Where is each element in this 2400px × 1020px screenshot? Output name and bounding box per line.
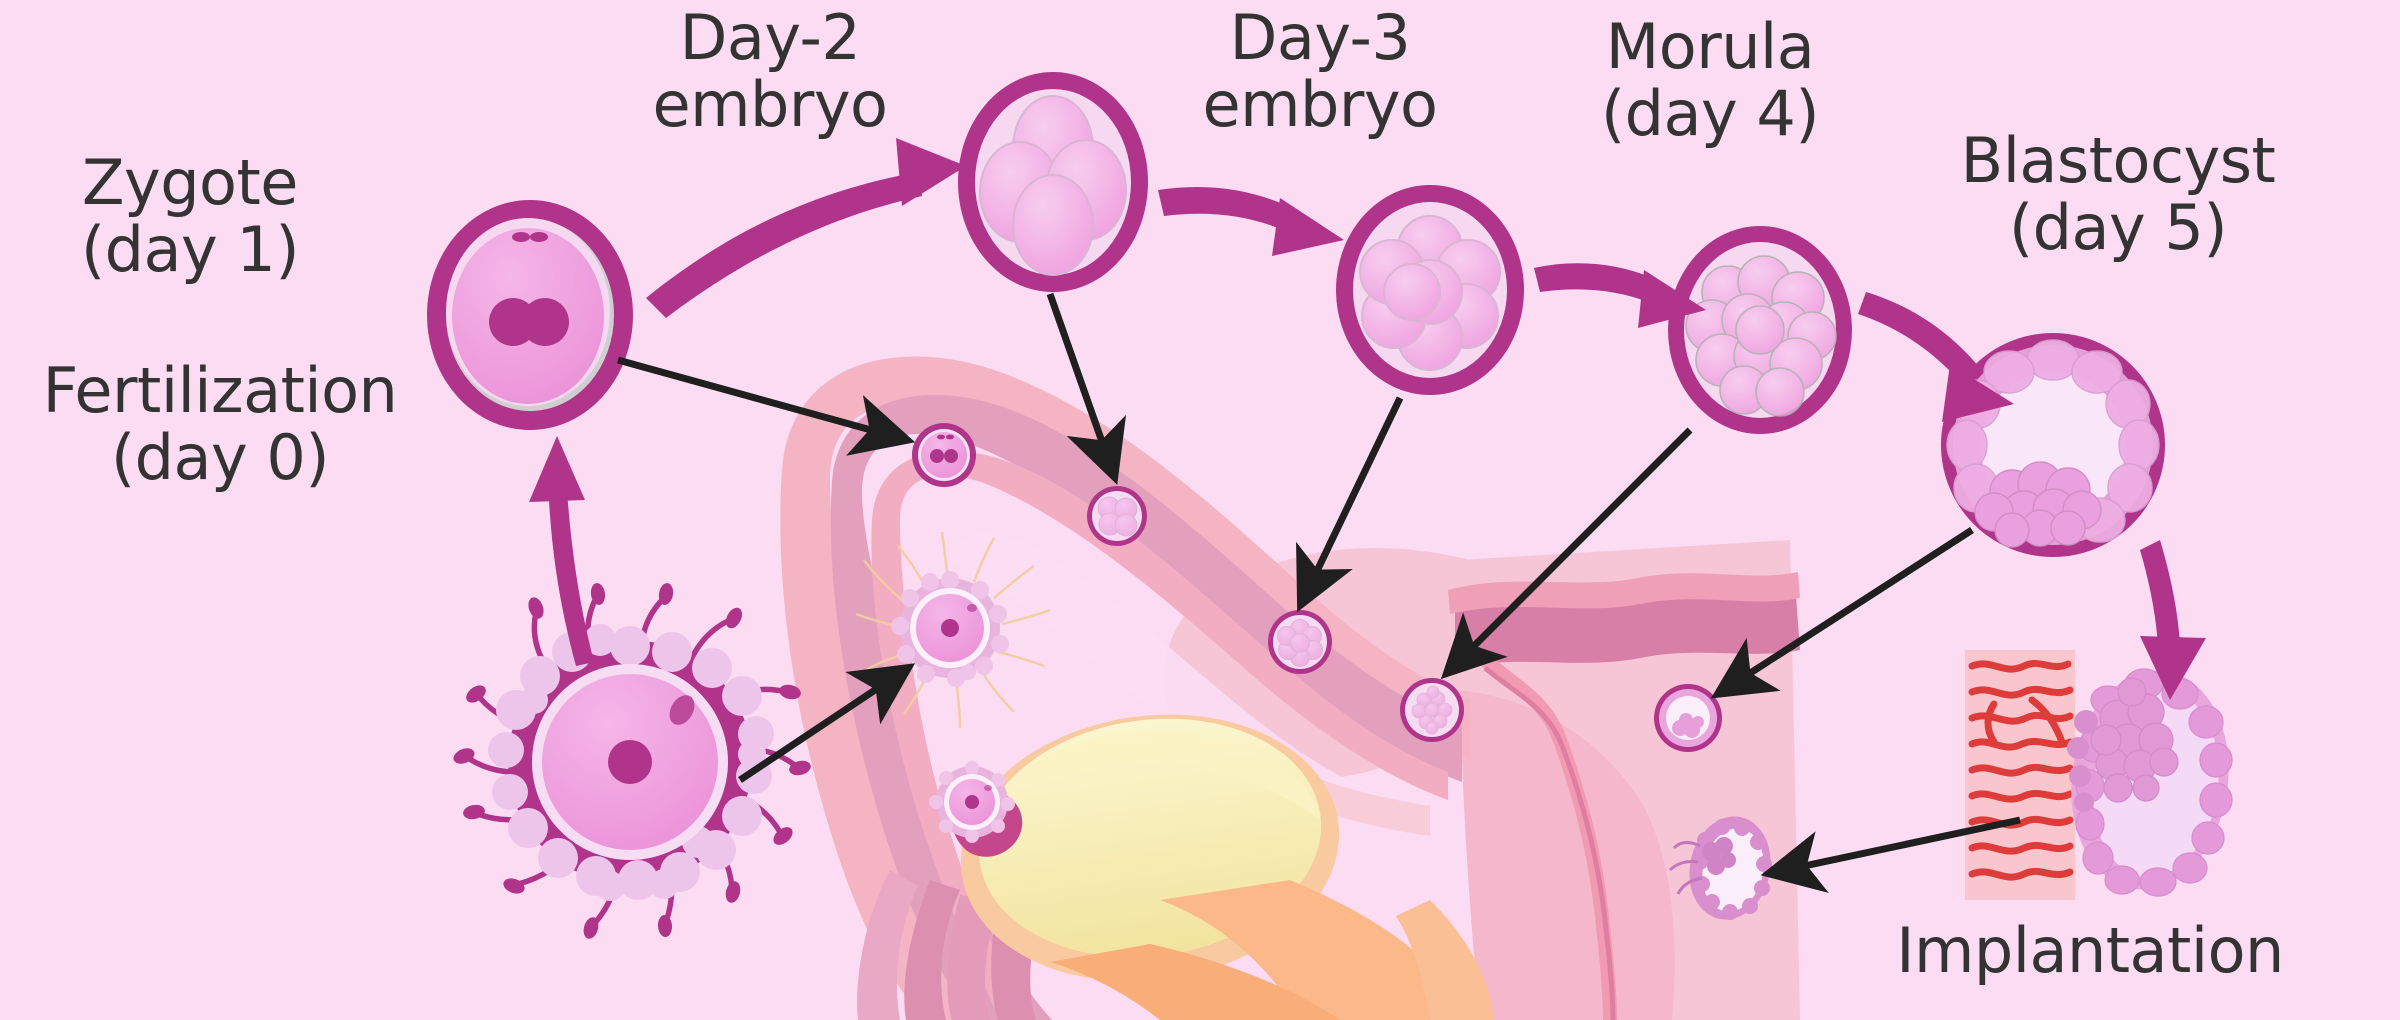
label-zygote: Zygote (day 1) (40, 150, 340, 284)
zygote-tube-polar-body-1 (937, 435, 945, 440)
ovum-nucleus (608, 740, 652, 784)
zygote-tube-polar-body-2 (946, 435, 954, 440)
morula-in-tube (1400, 678, 1464, 742)
zygote-polar-body-2 (530, 232, 548, 242)
zygote-tube-pronucleus-2 (944, 449, 958, 463)
ovum-nucleus-tube (941, 619, 959, 637)
label-blastocyst: Blastocyst (day 5) (1948, 128, 2288, 262)
day3-embryo-in-tube (1268, 610, 1332, 674)
day2-embryo-in-tube (1087, 486, 1147, 546)
morula-stage-figure (1668, 226, 1852, 434)
blastocyst-in-uterus (1654, 684, 1722, 752)
zygote-tube-cytoplasm (921, 432, 967, 478)
zygote-pronucleus-female (521, 298, 569, 346)
ovum-nucleus-released (965, 795, 979, 809)
zygote-stage-figure (427, 200, 633, 430)
day2-embryo-stage-figure (958, 72, 1148, 292)
polar-body-tube (967, 604, 977, 612)
label-implantation: Implantation (1860, 918, 2320, 985)
polar-body-released (984, 785, 992, 791)
day3-embryo-stage-figure (1336, 185, 1524, 395)
zygote-in-tube (912, 423, 976, 487)
label-fertilization: Fertilization (day 0) (10, 358, 430, 492)
label-day2-embryo: Day-2 embryo (620, 5, 920, 139)
day2-tube-blastomeres (1098, 497, 1137, 536)
diagram-canvas: Zygote (day 1) Day-2 embryo Day-3 embryo… (0, 0, 2400, 1020)
label-morula: Morula (day 4) (1560, 14, 1860, 148)
label-day3-embryo: Day-3 embryo (1170, 5, 1470, 139)
zygote-polar-body-1 (512, 232, 530, 242)
zygote-tube-pronucleus-1 (930, 449, 944, 463)
endometrium-tissue-strip (1965, 650, 2075, 900)
